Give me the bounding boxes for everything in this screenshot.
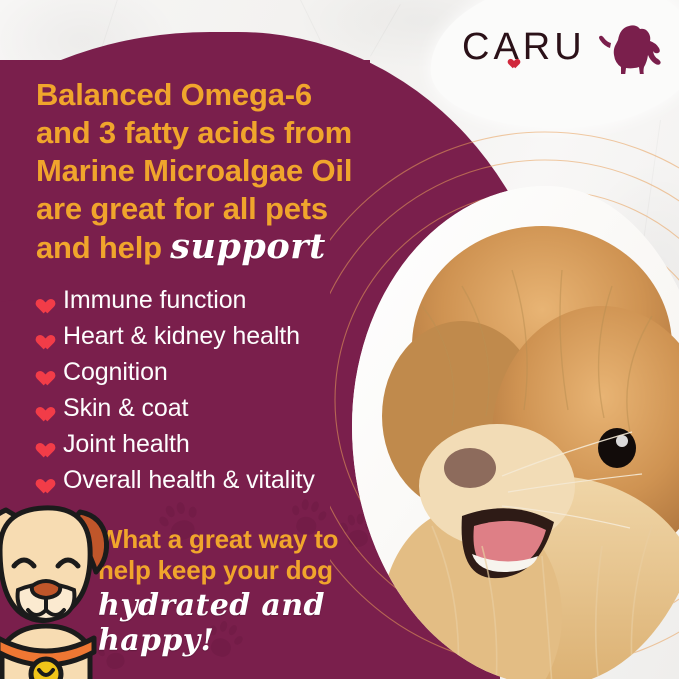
cartoon-dog-illustration xyxy=(0,498,134,679)
list-item-label: Heart & kidney health xyxy=(63,323,300,349)
headline-line-5: and help support xyxy=(36,228,436,267)
heart-icon xyxy=(33,328,50,344)
list-item-label: Cognition xyxy=(63,359,168,385)
brand-name: CARU xyxy=(462,26,586,69)
heart-icon xyxy=(33,364,50,380)
headline-line-5-text: and help xyxy=(36,230,170,265)
headline-line-3: Marine Microalgae Oil xyxy=(36,152,436,190)
list-item: Joint health xyxy=(33,426,433,462)
benefits-list: Immune function Heart & kidney health Co… xyxy=(33,282,433,498)
heart-icon xyxy=(33,436,50,452)
headline-line-2: and 3 fatty acids from xyxy=(36,114,436,152)
footer-line-1: What a great way to xyxy=(98,524,418,555)
headline: Balanced Omega-6 and 3 fatty acids from … xyxy=(36,76,436,267)
list-item-label: Joint health xyxy=(63,431,190,457)
heart-icon xyxy=(33,472,50,488)
heart-icon xyxy=(33,400,50,416)
list-item-label: Skin & coat xyxy=(63,395,188,421)
heart-icon xyxy=(506,55,517,65)
brand-logo[interactable]: CARU xyxy=(462,22,662,80)
headline-script-word: support xyxy=(170,226,326,267)
headline-line-1: Balanced Omega-6 xyxy=(36,76,436,114)
footer-script-line: hydrated and happy! xyxy=(98,588,418,658)
footer-callout: What a great way to help keep your dog h… xyxy=(98,524,418,658)
promo-banner: Balanced Omega-6 and 3 fatty acids from … xyxy=(0,0,679,679)
dog-silhouette-icon xyxy=(588,24,662,74)
list-item: Skin & coat xyxy=(33,390,433,426)
heart-icon xyxy=(33,292,50,308)
list-item-label: Overall health & vitality xyxy=(63,467,315,493)
footer-line-2: help keep your dog xyxy=(98,555,418,586)
headline-line-4: are great for all pets xyxy=(36,190,436,228)
list-item: Overall health & vitality xyxy=(33,462,433,498)
list-item-label: Immune function xyxy=(63,287,246,313)
list-item: Cognition xyxy=(33,354,433,390)
list-item: Immune function xyxy=(33,282,433,318)
list-item: Heart & kidney health xyxy=(33,318,433,354)
